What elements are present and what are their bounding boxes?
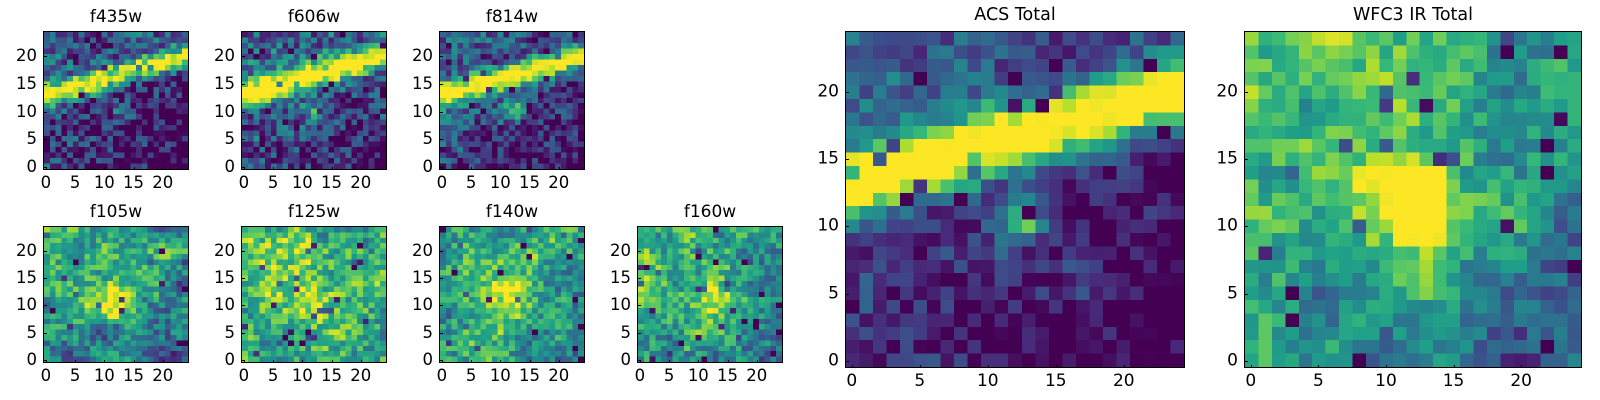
axes-f160w (637, 226, 783, 363)
ytick-f125w-10 (241, 305, 245, 306)
xtick-f435w-20 (163, 167, 164, 171)
ytick-acs-total-10 (845, 226, 849, 227)
ytick-f140w-20 (439, 251, 443, 252)
axes-f814w (439, 31, 585, 170)
xtick-f160w-10 (698, 360, 699, 364)
heatmap-f814w (440, 32, 584, 169)
heatmap-f160w (638, 227, 782, 362)
ytick-f435w-15 (43, 84, 47, 85)
xtick-f814w-15 (530, 167, 531, 171)
xtick-acs-total-20 (1124, 365, 1125, 369)
xticklabel-f140w-10: 10 (490, 368, 511, 385)
ytick-f814w-0 (439, 167, 443, 168)
yticklabel-wfc3-ir-total-10: 10 (1198, 218, 1238, 235)
yticklabel-f160w-20: 20 (591, 242, 631, 259)
xtick-f140w-15 (530, 360, 531, 364)
ytick-acs-total-15 (845, 159, 849, 160)
ytick-f125w-5 (241, 333, 245, 334)
xticklabel-f160w-0: 0 (635, 368, 646, 385)
axes-f435w (43, 31, 189, 170)
ytick-wfc3-ir-total-0 (1244, 361, 1248, 362)
yticklabel-wfc3-ir-total-5: 5 (1198, 285, 1238, 302)
panel-title-f606w: f606w (241, 9, 387, 26)
xtick-f606w-5 (273, 167, 274, 171)
xticklabel-f105w-0: 0 (41, 368, 52, 385)
xticklabel-f105w-20: 20 (152, 368, 173, 385)
yticklabel-f140w-0: 0 (393, 352, 433, 369)
xtick-f435w-15 (134, 167, 135, 171)
ytick-f160w-20 (637, 251, 641, 252)
axes-f140w (439, 226, 585, 363)
yticklabel-f125w-15: 15 (195, 270, 235, 287)
xticklabel-f160w-15: 15 (717, 368, 738, 385)
xticklabel-f105w-15: 15 (123, 368, 144, 385)
axes-f125w (241, 226, 387, 363)
ytick-f160w-0 (637, 360, 641, 361)
xtick-acs-total-5 (920, 365, 921, 369)
xtick-f140w-20 (559, 360, 560, 364)
xtick-f105w-5 (75, 360, 76, 364)
xticklabel-f125w-10: 10 (292, 368, 313, 385)
ytick-f105w-20 (43, 251, 47, 252)
axes-wfc3-ir-total (1244, 31, 1582, 368)
xticklabel-f125w-20: 20 (350, 368, 371, 385)
axes-acs-total (845, 31, 1185, 368)
xticklabel-f814w-20: 20 (548, 175, 569, 192)
xticklabel-f435w-20: 20 (152, 175, 173, 192)
xticklabel-f435w-10: 10 (94, 175, 115, 192)
ytick-f140w-5 (439, 333, 443, 334)
panel-title-f814w: f814w (439, 9, 585, 26)
xticklabel-acs-total-15: 15 (1045, 373, 1067, 390)
yticklabel-f125w-5: 5 (195, 325, 235, 342)
heatmap-wfc3-ir-total (1245, 32, 1581, 367)
ytick-wfc3-ir-total-10 (1244, 226, 1248, 227)
ytick-f814w-15 (439, 84, 443, 85)
yticklabel-f160w-0: 0 (591, 352, 631, 369)
xticklabel-f160w-10: 10 (688, 368, 709, 385)
xticklabel-f606w-0: 0 (239, 175, 250, 192)
xtick-acs-total-10 (988, 365, 989, 369)
xticklabel-f606w-10: 10 (292, 175, 313, 192)
ytick-wfc3-ir-total-15 (1244, 159, 1248, 160)
yticklabel-f125w-0: 0 (195, 352, 235, 369)
xticklabel-f606w-5: 5 (268, 175, 279, 192)
panel-f814w: f814w0510152005101520 (439, 31, 585, 170)
yticklabel-f105w-15: 15 (0, 270, 37, 287)
ytick-acs-total-5 (845, 294, 849, 295)
xticklabel-f606w-20: 20 (350, 175, 371, 192)
ytick-f606w-5 (241, 139, 245, 140)
xtick-f814w-20 (559, 167, 560, 171)
xtick-acs-total-0 (852, 365, 853, 369)
xticklabel-f160w-20: 20 (746, 368, 767, 385)
xticklabel-acs-total-5: 5 (914, 373, 925, 390)
yticklabel-wfc3-ir-total-0: 0 (1198, 353, 1238, 370)
xtick-f160w-5 (669, 360, 670, 364)
yticklabel-f606w-5: 5 (195, 131, 235, 148)
ytick-f435w-20 (43, 56, 47, 57)
heatmap-f435w (44, 32, 188, 169)
panel-title-f435w: f435w (43, 9, 189, 26)
yticklabel-f814w-20: 20 (393, 48, 433, 65)
yticklabel-f160w-5: 5 (591, 325, 631, 342)
xticklabel-f435w-5: 5 (70, 175, 81, 192)
panel-f140w: f140w0510152005101520 (439, 226, 585, 363)
xticklabel-f140w-5: 5 (466, 368, 477, 385)
heatmap-f140w (440, 227, 584, 362)
yticklabel-f105w-5: 5 (0, 325, 37, 342)
panel-title-acs-total: ACS Total (845, 7, 1185, 25)
xtick-f140w-5 (471, 360, 472, 364)
xticklabel-f125w-0: 0 (239, 368, 250, 385)
ytick-f606w-10 (241, 112, 245, 113)
xticklabel-f140w-20: 20 (548, 368, 569, 385)
xticklabel-wfc3-ir-total-0: 0 (1245, 373, 1256, 390)
xticklabel-f140w-0: 0 (437, 368, 448, 385)
xticklabel-f814w-15: 15 (519, 175, 540, 192)
heatmap-acs-total (846, 32, 1184, 367)
yticklabel-f140w-15: 15 (393, 270, 433, 287)
panel-wfc3-ir-total: WFC3 IR Total0510152005101520 (1244, 31, 1582, 368)
xticklabel-wfc3-ir-total-5: 5 (1313, 373, 1324, 390)
xtick-wfc3-ir-total-0 (1251, 365, 1252, 369)
xticklabel-f125w-5: 5 (268, 368, 279, 385)
xtick-wfc3-ir-total-10 (1386, 365, 1387, 369)
ytick-f125w-15 (241, 278, 245, 279)
yticklabel-wfc3-ir-total-20: 20 (1198, 83, 1238, 100)
yticklabel-f435w-15: 15 (0, 76, 37, 93)
yticklabel-f606w-20: 20 (195, 48, 235, 65)
xtick-f140w-10 (500, 360, 501, 364)
ytick-wfc3-ir-total-5 (1244, 294, 1248, 295)
xticklabel-f435w-15: 15 (123, 175, 144, 192)
yticklabel-f160w-15: 15 (591, 270, 631, 287)
yticklabel-acs-total-15: 15 (799, 151, 839, 168)
heatmap-f105w (44, 227, 188, 362)
axes-f606w (241, 31, 387, 170)
panel-title-f140w: f140w (439, 204, 585, 221)
xtick-f435w-10 (104, 167, 105, 171)
yticklabel-f125w-10: 10 (195, 297, 235, 314)
xticklabel-f160w-5: 5 (664, 368, 675, 385)
panel-title-f105w: f105w (43, 204, 189, 221)
heatmap-f606w (242, 32, 386, 169)
xtick-f606w-15 (332, 167, 333, 171)
ytick-f105w-15 (43, 278, 47, 279)
panel-title-wfc3-ir-total: WFC3 IR Total (1244, 7, 1582, 25)
panel-f105w: f105w0510152005101520 (43, 226, 189, 363)
ytick-f814w-10 (439, 112, 443, 113)
xtick-f814w-10 (500, 167, 501, 171)
xticklabel-f814w-10: 10 (490, 175, 511, 192)
ytick-wfc3-ir-total-20 (1244, 92, 1248, 93)
ytick-f160w-5 (637, 333, 641, 334)
xtick-wfc3-ir-total-15 (1454, 365, 1455, 369)
xtick-f606w-10 (302, 167, 303, 171)
yticklabel-f814w-10: 10 (393, 103, 433, 120)
ytick-f435w-10 (43, 112, 47, 113)
yticklabel-f105w-0: 0 (0, 352, 37, 369)
ytick-f606w-0 (241, 167, 245, 168)
yticklabel-f606w-10: 10 (195, 103, 235, 120)
xticklabel-f105w-10: 10 (94, 368, 115, 385)
panel-acs-total: ACS Total0510152005101520 (845, 31, 1185, 368)
ytick-f814w-5 (439, 139, 443, 140)
yticklabel-f814w-5: 5 (393, 131, 433, 148)
ytick-acs-total-0 (845, 361, 849, 362)
yticklabel-f606w-15: 15 (195, 76, 235, 93)
ytick-f140w-0 (439, 360, 443, 361)
ytick-f435w-5 (43, 139, 47, 140)
ytick-f435w-0 (43, 167, 47, 168)
yticklabel-f140w-10: 10 (393, 297, 433, 314)
yticklabel-acs-total-5: 5 (799, 285, 839, 302)
xticklabel-acs-total-20: 20 (1113, 373, 1135, 390)
yticklabel-f814w-15: 15 (393, 76, 433, 93)
panel-f160w: f160w0510152005101520 (637, 226, 783, 363)
xticklabel-f814w-0: 0 (437, 175, 448, 192)
yticklabel-wfc3-ir-total-15: 15 (1198, 151, 1238, 168)
yticklabel-acs-total-20: 20 (799, 83, 839, 100)
xticklabel-wfc3-ir-total-20: 20 (1510, 373, 1532, 390)
ytick-f160w-15 (637, 278, 641, 279)
yticklabel-f160w-10: 10 (591, 297, 631, 314)
xtick-acs-total-15 (1056, 365, 1057, 369)
matplotlib-figure: f435w0510152005101520f606w05101520051015… (0, 0, 1600, 400)
xticklabel-f125w-15: 15 (321, 368, 342, 385)
yticklabel-f814w-0: 0 (393, 159, 433, 176)
xticklabel-f606w-15: 15 (321, 175, 342, 192)
yticklabel-f140w-20: 20 (393, 242, 433, 259)
ytick-f105w-0 (43, 360, 47, 361)
xticklabel-f140w-15: 15 (519, 368, 540, 385)
ytick-acs-total-20 (845, 92, 849, 93)
panel-f125w: f125w0510152005101520 (241, 226, 387, 363)
xtick-f125w-20 (361, 360, 362, 364)
xticklabel-wfc3-ir-total-15: 15 (1443, 373, 1465, 390)
xticklabel-f814w-5: 5 (466, 175, 477, 192)
xtick-f160w-20 (757, 360, 758, 364)
ytick-f606w-15 (241, 84, 245, 85)
ytick-f105w-5 (43, 333, 47, 334)
ytick-f140w-10 (439, 305, 443, 306)
yticklabel-f435w-0: 0 (0, 159, 37, 176)
xtick-f125w-15 (332, 360, 333, 364)
xtick-f105w-10 (104, 360, 105, 364)
xtick-wfc3-ir-total-20 (1521, 365, 1522, 369)
xtick-f435w-5 (75, 167, 76, 171)
panel-f606w: f606w0510152005101520 (241, 31, 387, 170)
yticklabel-acs-total-0: 0 (799, 353, 839, 370)
xtick-f606w-20 (361, 167, 362, 171)
yticklabel-acs-total-10: 10 (799, 218, 839, 235)
ytick-f140w-15 (439, 278, 443, 279)
yticklabel-f435w-5: 5 (0, 131, 37, 148)
yticklabel-f140w-5: 5 (393, 325, 433, 342)
xtick-f814w-5 (471, 167, 472, 171)
yticklabel-f105w-10: 10 (0, 297, 37, 314)
ytick-f606w-20 (241, 56, 245, 57)
xticklabel-f105w-5: 5 (70, 368, 81, 385)
yticklabel-f105w-20: 20 (0, 242, 37, 259)
panel-title-f160w: f160w (637, 204, 783, 221)
xtick-f125w-10 (302, 360, 303, 364)
xticklabel-acs-total-10: 10 (977, 373, 999, 390)
xtick-wfc3-ir-total-5 (1318, 365, 1319, 369)
yticklabel-f125w-20: 20 (195, 242, 235, 259)
xticklabel-f435w-0: 0 (41, 175, 52, 192)
xticklabel-wfc3-ir-total-10: 10 (1375, 373, 1397, 390)
xtick-f160w-15 (728, 360, 729, 364)
xtick-f105w-15 (134, 360, 135, 364)
heatmap-f125w (242, 227, 386, 362)
ytick-f105w-10 (43, 305, 47, 306)
yticklabel-f606w-0: 0 (195, 159, 235, 176)
ytick-f125w-0 (241, 360, 245, 361)
ytick-f814w-20 (439, 56, 443, 57)
xticklabel-acs-total-0: 0 (846, 373, 857, 390)
ytick-f160w-10 (637, 305, 641, 306)
yticklabel-f435w-20: 20 (0, 48, 37, 65)
ytick-f125w-20 (241, 251, 245, 252)
panel-title-f125w: f125w (241, 204, 387, 221)
panel-f435w: f435w0510152005101520 (43, 31, 189, 170)
yticklabel-f435w-10: 10 (0, 103, 37, 120)
xtick-f105w-20 (163, 360, 164, 364)
axes-f105w (43, 226, 189, 363)
xtick-f125w-5 (273, 360, 274, 364)
